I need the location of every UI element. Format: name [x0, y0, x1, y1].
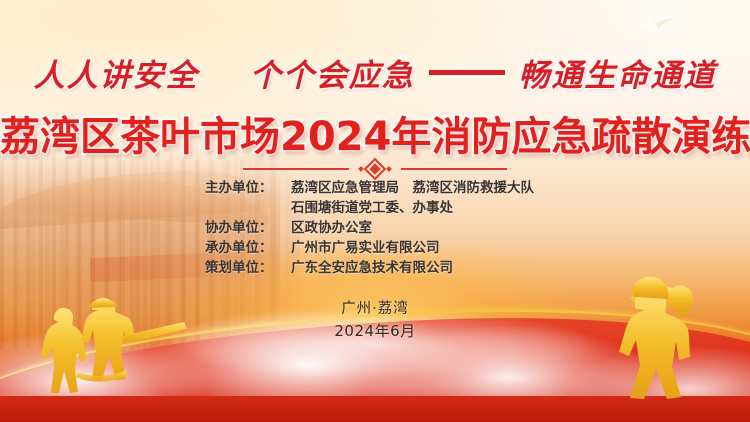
divider-rule-right — [401, 168, 507, 170]
organizer-label: 承办单位： — [205, 238, 291, 258]
diamond-ornament-divider-icon — [243, 160, 507, 178]
organizer-row: 石围塘街道党工委、办事处 — [205, 198, 545, 218]
fire-drill-banner: 人人讲安全 个个会应急 畅通生命通道 荔湾区茶叶市场2024年消防应急疏散演练 … — [0, 0, 750, 422]
slogan-part-3: 畅通生命通道 — [518, 58, 716, 94]
banner-slogan: 人人讲安全 个个会应急 畅通生命通道 — [0, 50, 750, 95]
page-title: 荔湾区茶叶市场2024年消防应急疏散演练 — [0, 104, 750, 162]
organizer-label: 策划单位： — [205, 258, 291, 278]
slogan-part-1: 人人讲安全 — [34, 58, 199, 94]
slogan-part-2: 个个会应急 — [250, 58, 415, 94]
organizer-row: 承办单位： 广州市广易实业有限公司 — [205, 238, 545, 258]
organizer-row: 协办单位： 区政协办公室 — [205, 218, 545, 238]
organizer-value: 广州市广易实业有限公司 — [291, 238, 545, 258]
dove-bird-icon — [622, 6, 680, 40]
em-dash-rule-icon — [429, 70, 505, 75]
divider-dot-right — [386, 166, 392, 172]
organizer-row: 策划单位： 广东全安应急技术有限公司 — [205, 258, 545, 278]
organizer-block: 主办单位： 荔湾区应急管理局 荔湾区消防救援大队 石围塘街道党工委、办事处 协办… — [0, 178, 750, 278]
event-date: 2024年6月 — [0, 320, 750, 342]
organizer-value: 区政协办公室 — [291, 218, 545, 238]
organizer-value: 荔湾区应急管理局 荔湾区消防救援大队 — [291, 178, 545, 198]
organizer-value: 石围塘街道党工委、办事处 — [291, 198, 545, 218]
divider-ornament — [349, 160, 401, 178]
organizer-label: 协办单位： — [205, 218, 291, 238]
footer-block: 广州·荔湾 2024年6月 — [0, 298, 750, 342]
divider-rule-left — [243, 168, 349, 170]
organizer-value: 广东全安应急技术有限公司 — [291, 258, 545, 278]
event-location: 广州·荔湾 — [0, 298, 750, 320]
organizer-label: 主办单位： — [205, 178, 291, 198]
divider-diamond-icon — [364, 158, 387, 181]
organizer-row: 主办单位： 荔湾区应急管理局 荔湾区消防救援大队 — [205, 178, 545, 198]
